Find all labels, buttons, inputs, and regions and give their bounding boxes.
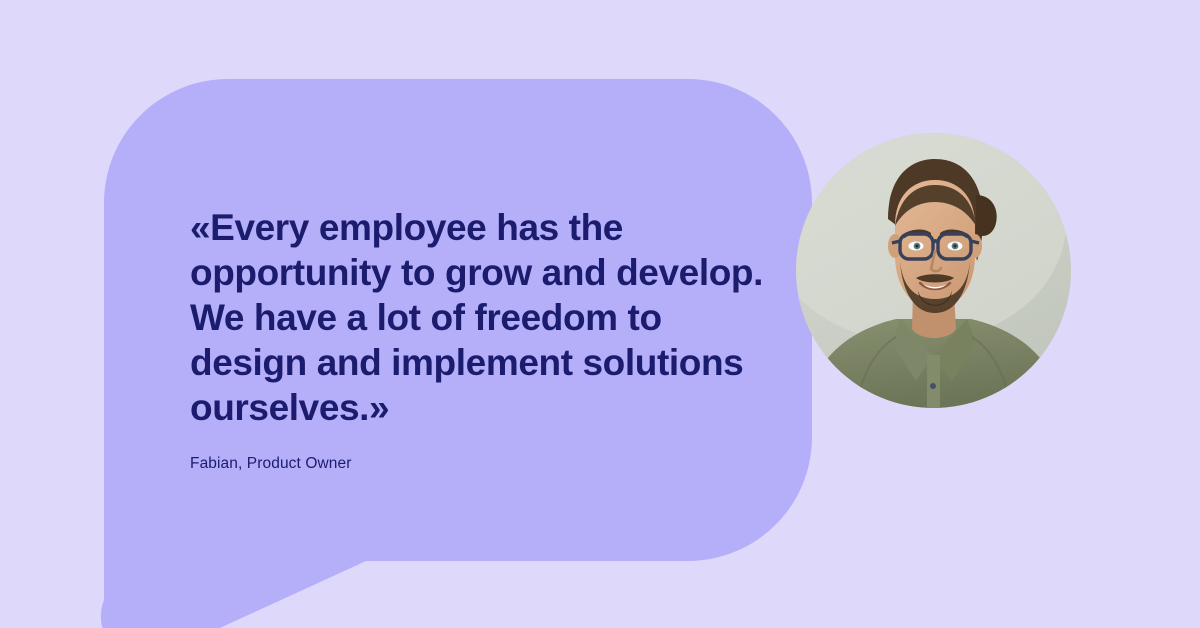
quote-block: «Every employee has the opportunity to g… (190, 205, 770, 474)
testimonial-card: «Every employee has the opportunity to g… (0, 0, 1200, 628)
quote-text: «Every employee has the opportunity to g… (190, 205, 770, 430)
portrait-avatar (796, 133, 1071, 408)
portrait-illustration (796, 133, 1071, 408)
attribution-text: Fabian, Product Owner (190, 454, 770, 474)
